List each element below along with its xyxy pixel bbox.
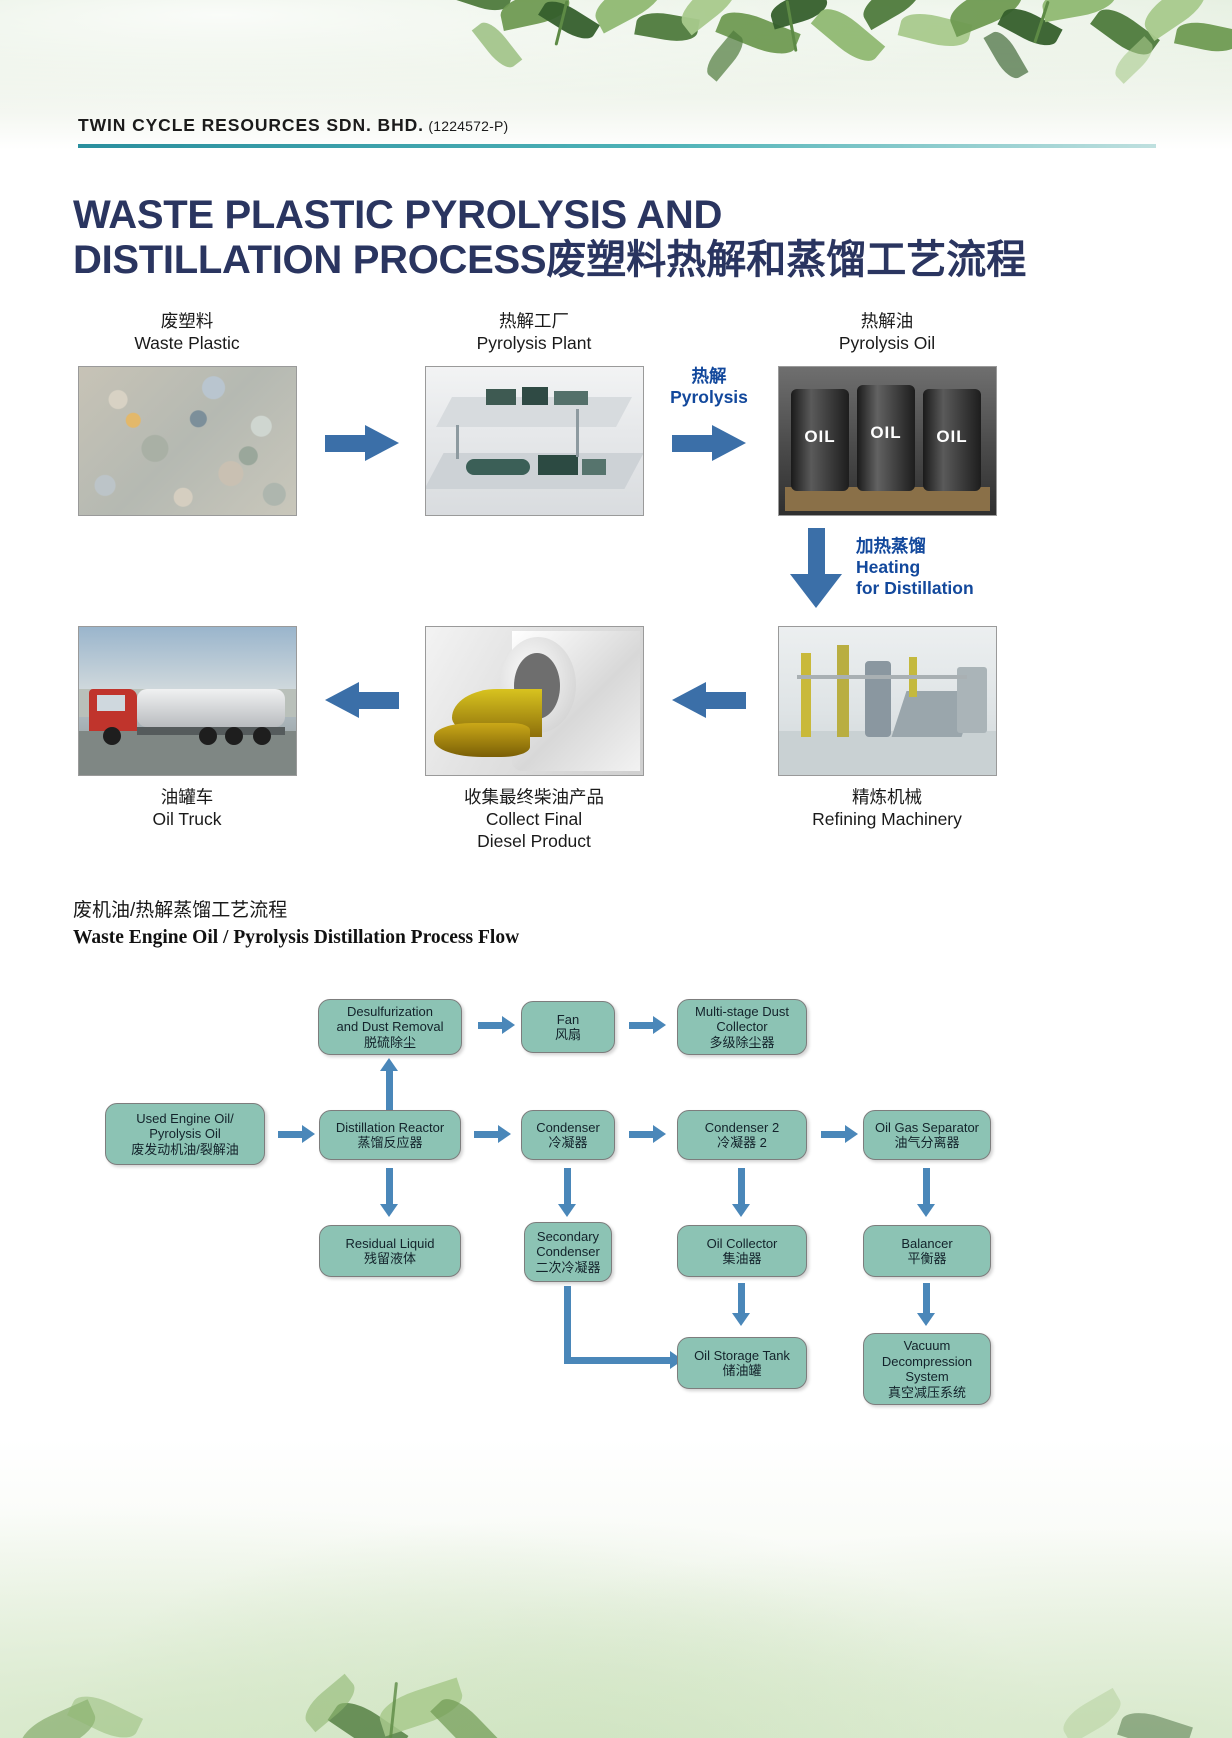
connector-desulfurization-fan <box>478 1022 504 1029</box>
flow-node-residual-liquid-en1: Residual Liquid <box>346 1236 435 1252</box>
flow-node-oil-collector-cn: 集油器 <box>707 1251 778 1267</box>
caption-waste-plastic: 废塑料 Waste Plastic <box>78 310 296 354</box>
flow-node-dust-collector-en1: Multi-stage Dust <box>695 1004 789 1020</box>
caption-collect-diesel-en1: Collect Final <box>415 808 653 830</box>
refine-column <box>837 645 849 737</box>
flow-node-fan-en1: Fan <box>555 1012 581 1028</box>
company-registration-number: (1224572-P) <box>428 118 508 134</box>
arrow-plant-to-oil <box>672 425 746 461</box>
plant-pipe <box>456 425 459 459</box>
header-divider <box>78 144 1156 148</box>
truck-wheel <box>253 727 271 745</box>
truck-wheel <box>103 727 121 745</box>
caption-pyrolysis-oil: 热解油 Pyrolysis Oil <box>778 310 996 354</box>
flow-node-secondary-condenser-en1: Secondary <box>535 1229 600 1245</box>
arrow-refining-to-diesel <box>672 682 746 718</box>
flow-node-balancer-en1: Balancer <box>901 1236 952 1252</box>
flow-node-balancer[interactable]: Balancer 平衡器 <box>863 1225 991 1277</box>
caption-waste-plastic-en: Waste Plastic <box>78 332 296 354</box>
connector-reactor-desulfurization <box>386 1070 393 1114</box>
caption-pyrolysis-plant-en: Pyrolysis Plant <box>425 332 643 354</box>
flow-node-vacuum-decompression-system[interactable]: Vacuum Decompression System 真空减压系统 <box>863 1333 991 1405</box>
image-pyrolysis-oil: OIL OIL OIL <box>778 366 997 516</box>
caption-collect-diesel-en2: Diesel Product <box>415 830 653 852</box>
flow-node-condenser-2-cn: 冷凝器 2 <box>705 1135 779 1151</box>
connector-secondary-elbow-horizontal <box>564 1357 674 1364</box>
flow-node-secondary-condenser[interactable]: Secondary Condenser 二次冷凝器 <box>524 1222 612 1282</box>
refine-pipe <box>797 675 967 679</box>
company-header: TWIN CYCLE RESOURCES SDN. BHD. (1224572-… <box>78 115 508 136</box>
refine-column <box>801 653 811 737</box>
flow-node-condenser-2-en1: Condenser 2 <box>705 1120 779 1136</box>
connector-condenser-condenser2 <box>629 1131 655 1138</box>
truck-windshield <box>97 695 125 711</box>
diesel-pool <box>434 723 530 757</box>
refine-tank <box>865 661 891 737</box>
caption-waste-plastic-cn: 废塑料 <box>78 310 296 332</box>
connector-condenser2-separator <box>821 1131 847 1138</box>
flow-node-oil-storage-tank-en1: Oil Storage Tank <box>694 1348 790 1364</box>
plant-pipe <box>576 409 579 457</box>
image-waste-plastic <box>78 366 297 516</box>
flow-node-vacuum-cn: 真空减压系统 <box>882 1385 972 1401</box>
caption-oil-truck: 油罐车 Oil Truck <box>78 786 296 830</box>
page-title-line1: WASTE PLASTIC PYROLYSIS AND <box>73 193 1133 238</box>
connector-arrowhead <box>732 1204 750 1217</box>
caption-pyrolysis-oil-cn: 热解油 <box>778 310 996 332</box>
arrow-diesel-to-truck <box>325 682 399 718</box>
image-pyrolysis-plant <box>425 366 644 516</box>
flow-node-oil-storage-tank-cn: 储油罐 <box>694 1363 790 1379</box>
flow-node-secondary-condenser-en2: Condenser <box>535 1244 600 1260</box>
flow-node-fan-cn: 风扇 <box>555 1027 581 1043</box>
flow-node-used-engine-oil-en1: Used Engine Oil/ <box>131 1111 239 1127</box>
connector-arrowhead <box>653 1125 666 1143</box>
caption-oil-truck-en: Oil Truck <box>78 808 296 830</box>
flow-node-vacuum-en2: Decompression <box>882 1354 972 1370</box>
arrow-plastic-to-plant <box>325 425 399 461</box>
flow-node-condenser[interactable]: Condenser 冷凝器 <box>521 1110 615 1160</box>
image-oil-truck <box>78 626 297 776</box>
flow-node-dust-collector-en2: Collector <box>695 1019 789 1035</box>
connector-arrowhead <box>845 1125 858 1143</box>
caption-refining-machinery-cn: 精炼机械 <box>778 786 996 808</box>
connector-arrowhead <box>380 1058 398 1071</box>
truck-sky <box>79 627 296 689</box>
flow-node-oil-collector[interactable]: Oil Collector 集油器 <box>677 1225 807 1277</box>
connector-fan-dust-collector <box>629 1022 655 1029</box>
connector-arrowhead <box>302 1125 315 1143</box>
flow-node-vacuum-en1: Vacuum <box>882 1338 972 1354</box>
section2-title-en: Waste Engine Oil / Pyrolysis Distillatio… <box>73 924 519 951</box>
section2-title-cn: 废机油/热解蒸馏工艺流程 <box>73 898 519 924</box>
connector-separator-balancer <box>923 1168 930 1206</box>
flow-node-balancer-cn: 平衡器 <box>901 1251 952 1267</box>
page-title: WASTE PLASTIC PYROLYSIS AND DISTILLATION… <box>73 193 1133 283</box>
truck-tank <box>137 689 285 727</box>
flow-node-distillation-reactor-cn: 蒸馏反应器 <box>336 1135 444 1151</box>
image-refining-machinery <box>778 626 997 776</box>
truck-wheel <box>225 727 243 745</box>
connector-arrowhead <box>917 1313 935 1326</box>
caption-oil-truck-cn: 油罐车 <box>78 786 296 808</box>
flow-node-distillation-reactor-en1: Distillation Reactor <box>336 1120 444 1136</box>
refine-ground <box>779 731 996 775</box>
connector-arrowhead <box>732 1313 750 1326</box>
arrow-label-pyrolysis: 热解 Pyrolysis <box>648 366 770 408</box>
flow-node-desulfurization-en1: Desulfurization <box>337 1004 444 1020</box>
flow-node-oil-collector-en1: Oil Collector <box>707 1236 778 1252</box>
connector-condenser-secondary <box>564 1168 571 1206</box>
connector-oil-reactor <box>278 1131 304 1138</box>
oil-drum-label: OIL <box>863 423 909 441</box>
connector-arrowhead <box>917 1204 935 1217</box>
connector-arrowhead <box>380 1204 398 1217</box>
caption-refining-machinery-en: Refining Machinery <box>778 808 996 830</box>
oil-drum-label: OIL <box>797 427 843 445</box>
flow-node-distillation-reactor[interactable]: Distillation Reactor 蒸馏反应器 <box>319 1110 461 1160</box>
caption-refining-machinery: 精炼机械 Refining Machinery <box>778 786 996 830</box>
flow-node-condenser-en1: Condenser <box>536 1120 600 1136</box>
footer-leaf-decoration <box>0 1438 1232 1738</box>
flow-node-condenser-2[interactable]: Condenser 2 冷凝器 2 <box>677 1110 807 1160</box>
plant-unit <box>538 455 578 475</box>
connector-arrowhead <box>498 1125 511 1143</box>
flow-node-oil-storage-tank[interactable]: Oil Storage Tank 储油罐 <box>677 1337 807 1389</box>
arrow-label-heating: 加热蒸馏 Heating for Distillation <box>856 536 1006 599</box>
caption-pyrolysis-plant-cn: 热解工厂 <box>425 310 643 332</box>
image-collect-diesel <box>425 626 644 776</box>
arrow-oil-to-refining <box>790 528 842 608</box>
caption-pyrolysis-plant: 热解工厂 Pyrolysis Plant <box>425 310 643 354</box>
flow-node-vacuum-en3: System <box>882 1369 972 1385</box>
flow-node-secondary-condenser-cn: 二次冷凝器 <box>535 1260 600 1276</box>
connector-reactor-residual <box>386 1168 393 1206</box>
connector-reactor-condenser <box>474 1131 500 1138</box>
connector-oilcollector-storagetank <box>738 1283 745 1315</box>
flow-node-used-engine-oil-en2: Pyrolysis Oil <box>131 1126 239 1142</box>
arrow-label-pyrolysis-en: Pyrolysis <box>648 387 770 408</box>
flow-node-dust-collector-cn: 多级除尘器 <box>695 1035 789 1051</box>
plant-unit <box>486 389 516 405</box>
flow-node-oil-gas-separator-cn: 油气分离器 <box>875 1135 979 1151</box>
page-title-line2-en: DISTILLATION PROCESS <box>73 238 546 282</box>
arrow-label-heating-en2: for Distillation <box>856 578 1006 599</box>
caption-collect-diesel: 收集最终柴油产品 Collect Final Diesel Product <box>415 786 653 852</box>
plant-unit <box>554 391 588 405</box>
connector-arrowhead <box>653 1016 666 1034</box>
flow-node-oil-gas-separator-en1: Oil Gas Separator <box>875 1120 979 1136</box>
arrow-label-heating-cn: 加热蒸馏 <box>856 536 1006 557</box>
connector-secondary-elbow-vertical <box>564 1286 571 1364</box>
plant-unit <box>582 459 606 475</box>
leaf-wash-bottom <box>0 1438 1232 1738</box>
flow-node-oil-gas-separator[interactable]: Oil Gas Separator 油气分离器 <box>863 1110 991 1160</box>
oil-drum-label: OIL <box>929 427 975 445</box>
connector-balancer-vacuum <box>923 1283 930 1315</box>
connector-condenser2-oilcollector <box>738 1168 745 1206</box>
connector-arrowhead <box>558 1204 576 1217</box>
page-title-line2-cn: 废塑料热解和蒸馏工艺流程 <box>546 238 1026 282</box>
flow-node-residual-liquid[interactable]: Residual Liquid 残留液体 <box>319 1225 461 1277</box>
company-name: TWIN CYCLE RESOURCES SDN. BHD. <box>78 115 424 135</box>
connector-arrowhead <box>502 1016 515 1034</box>
flow-node-used-engine-oil[interactable]: Used Engine Oil/ Pyrolysis Oil 废发动机油/裂解油 <box>105 1103 265 1165</box>
flow-node-desulfurization[interactable]: Desulfurization and Dust Removal 脱硫除尘 <box>318 999 462 1055</box>
caption-collect-diesel-cn: 收集最终柴油产品 <box>415 786 653 808</box>
flow-node-desulfurization-en2: and Dust Removal <box>337 1019 444 1035</box>
flow-node-desulfurization-cn: 脱硫除尘 <box>337 1035 444 1051</box>
arrow-label-heating-en1: Heating <box>856 557 1006 578</box>
flow-node-fan[interactable]: Fan 风扇 <box>521 1001 615 1053</box>
plant-unit <box>522 387 548 405</box>
flow-node-used-engine-oil-cn: 废发动机油/裂解油 <box>131 1142 239 1158</box>
section2-title: 废机油/热解蒸馏工艺流程 Waste Engine Oil / Pyrolysi… <box>73 898 519 951</box>
flow-node-residual-liquid-cn: 残留液体 <box>346 1251 435 1267</box>
flow-node-multi-stage-dust-collector[interactable]: Multi-stage Dust Collector 多级除尘器 <box>677 999 807 1055</box>
truck-wheel <box>199 727 217 745</box>
plant-reactor <box>466 459 530 475</box>
caption-pyrolysis-oil-en: Pyrolysis Oil <box>778 332 996 354</box>
flow-node-condenser-cn: 冷凝器 <box>536 1135 600 1151</box>
arrow-label-pyrolysis-cn: 热解 <box>648 366 770 387</box>
